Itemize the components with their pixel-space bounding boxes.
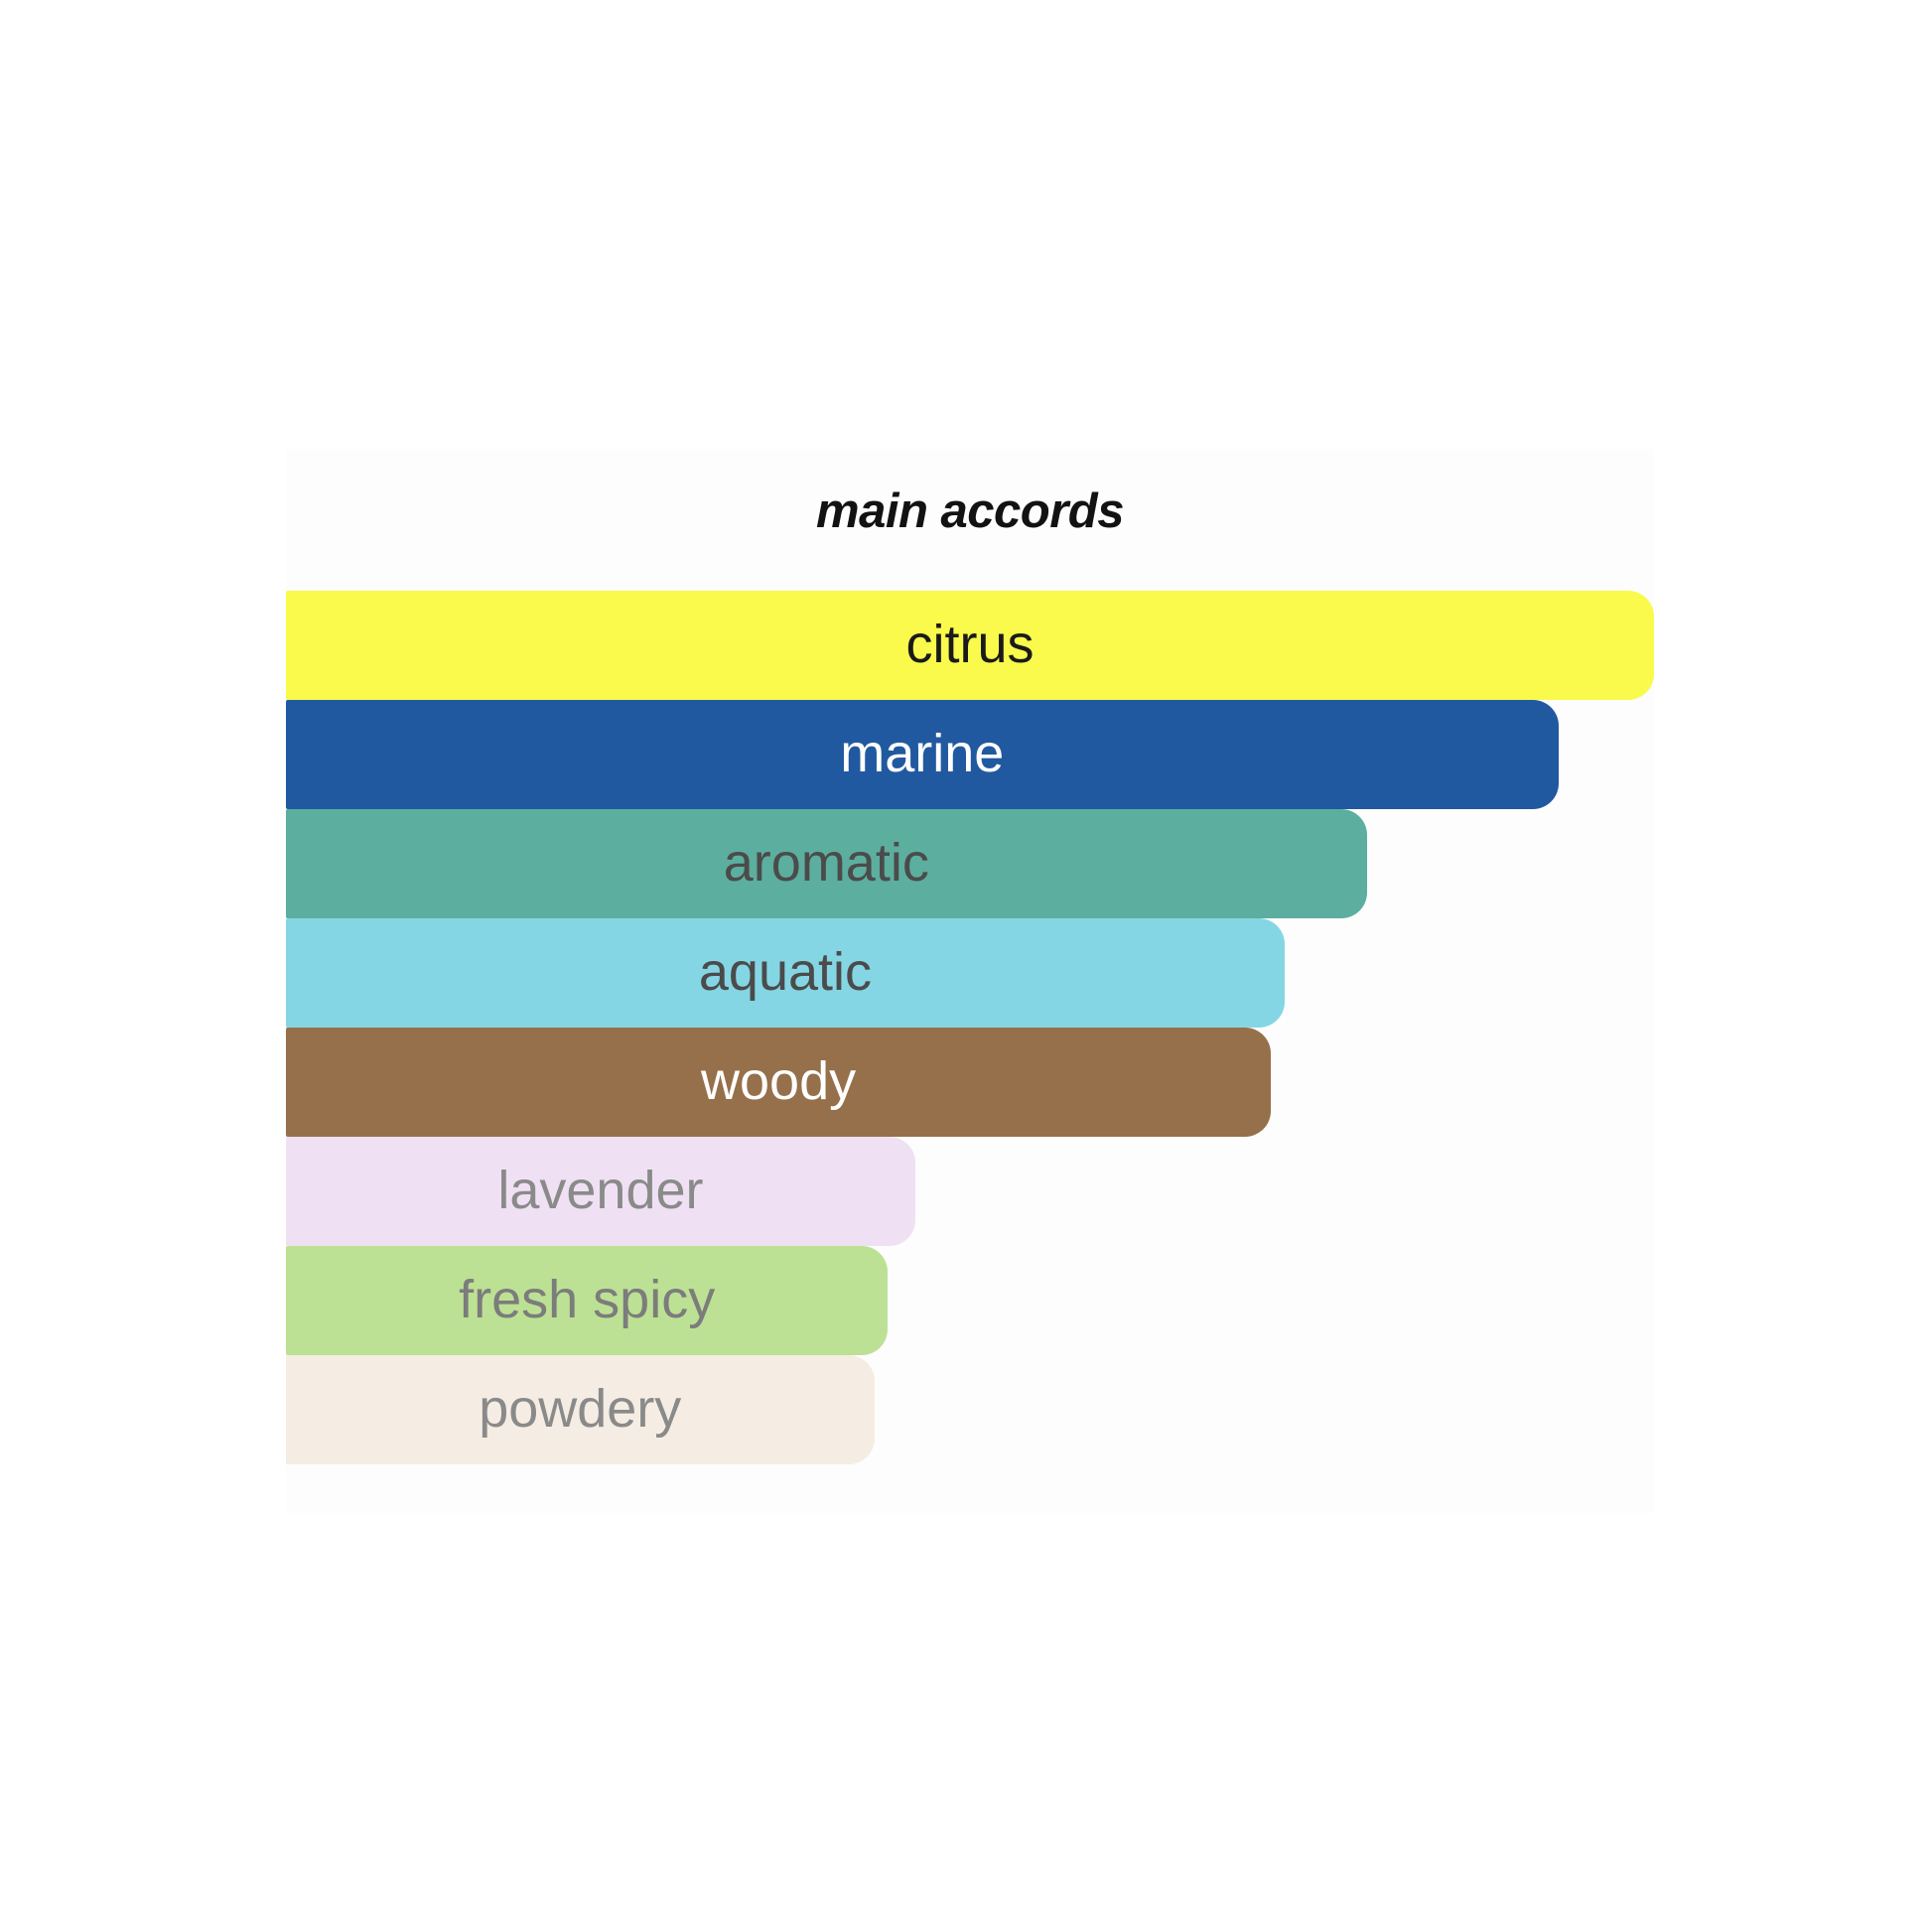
accord-label: powdery	[479, 1382, 681, 1436]
accord-label: marine	[840, 727, 1004, 780]
accord-label: fresh spicy	[459, 1273, 715, 1326]
accord-bar-aromatic[interactable]: aromatic	[286, 809, 1367, 918]
accord-bar-woody[interactable]: woody	[286, 1028, 1271, 1137]
accord-label: aromatic	[724, 836, 929, 890]
page-title: main accords	[286, 483, 1654, 539]
accord-label: citrus	[905, 618, 1034, 671]
accord-bar-aquatic[interactable]: aquatic	[286, 918, 1285, 1028]
accord-bar-powdery[interactable]: powdery	[286, 1355, 875, 1464]
accord-label: lavender	[497, 1164, 703, 1217]
accord-bar-fresh-spicy[interactable]: fresh spicy	[286, 1246, 888, 1355]
screenshot-canvas: main accords citrusmarinearomaticaquatic…	[0, 0, 1932, 1932]
accord-label: aquatic	[699, 945, 872, 999]
accord-bar-marine[interactable]: marine	[286, 700, 1559, 809]
accord-label: woody	[701, 1054, 856, 1108]
accord-bar-citrus[interactable]: citrus	[286, 591, 1654, 700]
accord-bar-chart: citrusmarinearomaticaquaticwoodylavender…	[286, 591, 1654, 1464]
accord-bar-lavender[interactable]: lavender	[286, 1137, 915, 1246]
